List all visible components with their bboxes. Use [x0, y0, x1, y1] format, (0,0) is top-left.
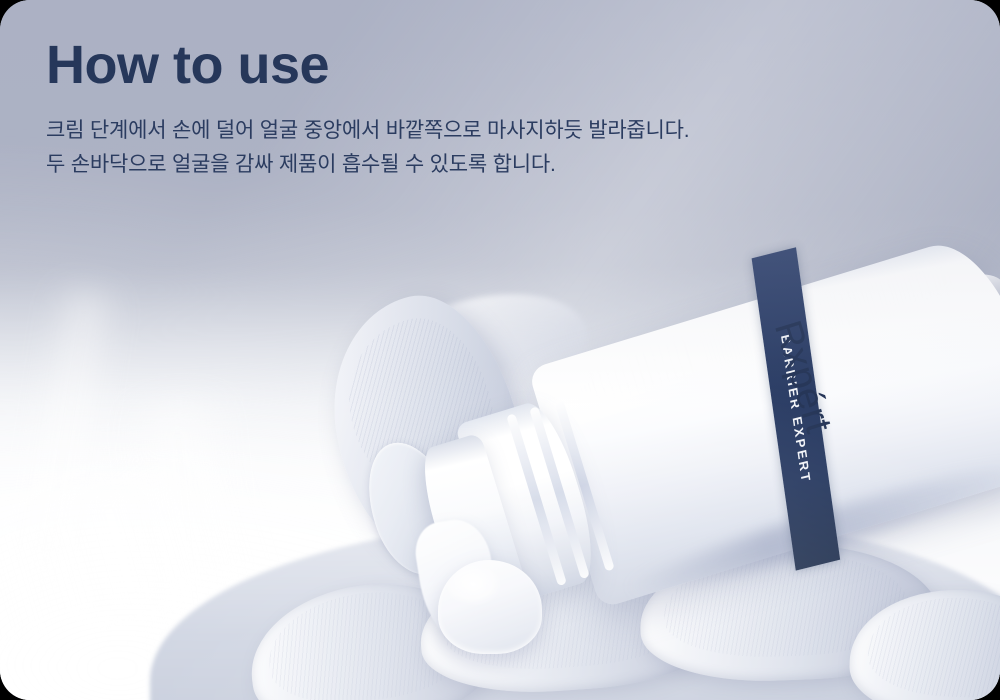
page-title: How to use: [46, 36, 956, 94]
text-content: How to use 크림 단계에서 손에 덜어 얼굴 중앙에서 바깥쪽으로 마…: [0, 0, 1000, 182]
how-to-use-card: BARRIER EXPERT Rxpért How to use 크림 단계에서…: [0, 0, 1000, 700]
cream-droplet: [438, 560, 542, 654]
instructions-text: 크림 단계에서 손에 덜어 얼굴 중앙에서 바깥쪽으로 마사지하듯 발라줍니다.…: [46, 114, 956, 182]
